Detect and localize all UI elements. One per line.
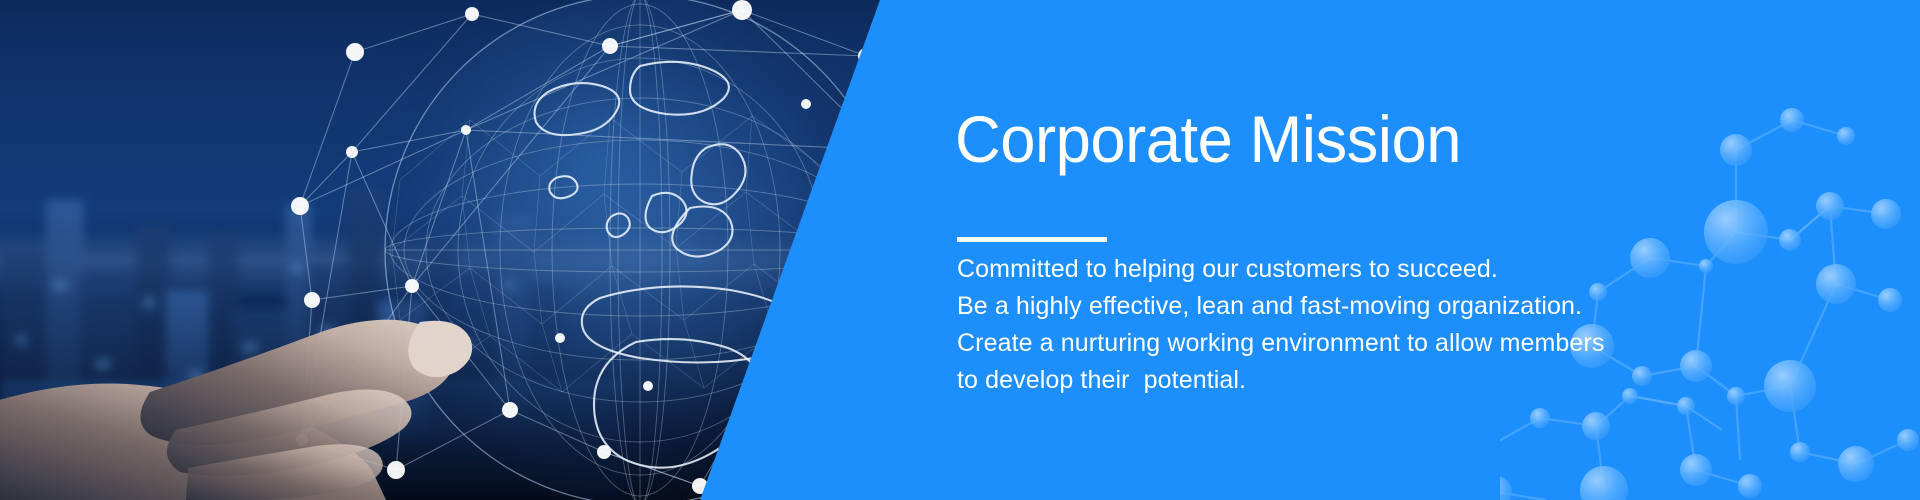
- mission-line: Committed to helping our customers to su…: [957, 251, 1604, 288]
- mission-line: Create a nurturing working environment t…: [957, 325, 1604, 362]
- corporate-mission-banner: Corporate Mission Committed to helping o…: [0, 0, 1920, 500]
- text-content: Corporate Mission Committed to helping o…: [955, 0, 1755, 500]
- title-underline: [957, 237, 1107, 242]
- page-title: Corporate Mission: [955, 106, 1461, 172]
- mission-statement-list: Committed to helping our customers to su…: [957, 251, 1604, 399]
- mission-line: to develop their potential.: [957, 362, 1604, 399]
- mission-line: Be a highly effective, lean and fast-mov…: [957, 288, 1604, 325]
